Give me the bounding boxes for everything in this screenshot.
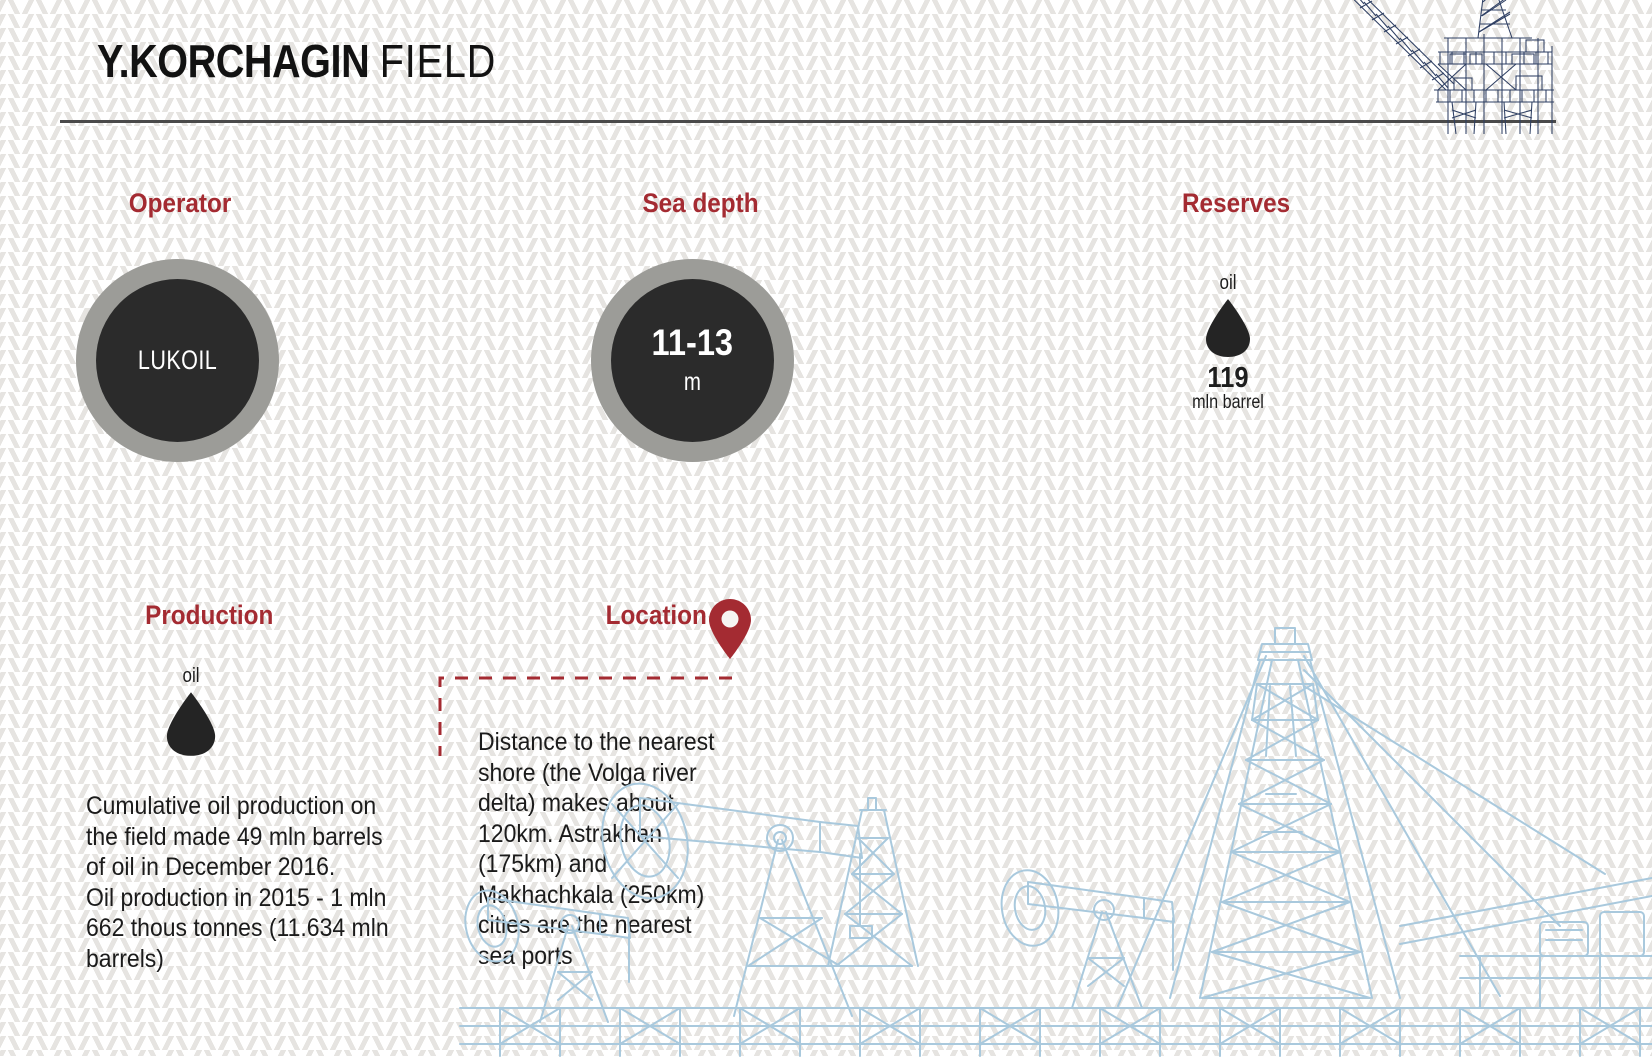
- page-title: Y.KORCHAGIN FIELD: [97, 38, 1353, 84]
- reserves-figure: oil 119 mln barrel: [1170, 273, 1286, 414]
- operator-ring: LUKOIL: [76, 259, 279, 462]
- drilling-derrick-illustration: [828, 798, 918, 966]
- section-heading-reserves: Reserves: [1182, 190, 1290, 217]
- reserves-drop-label: oil: [1179, 273, 1278, 293]
- sea-depth-value: 11-13: [652, 324, 733, 363]
- oil-drop-icon: [160, 690, 222, 758]
- reserves-value: 119: [1177, 363, 1279, 393]
- offshore-platform-illustration: [1326, 0, 1556, 134]
- oil-drop-icon: [1200, 297, 1256, 359]
- reserves-unit: mln barrel: [1179, 393, 1278, 414]
- operator-core: LUKOIL: [96, 279, 259, 442]
- operator-value: LUKOIL: [138, 345, 217, 376]
- production-drop-label: oil: [142, 666, 241, 686]
- sea-depth-badge: 11-13 m: [591, 259, 794, 462]
- sea-depth-core: 11-13 m: [611, 279, 774, 442]
- production-description: Cumulative oil production on the field m…: [86, 791, 403, 974]
- oilfield-illustration: [700, 626, 1652, 1056]
- section-heading-production: Production: [145, 602, 273, 629]
- sea-depth-ring: 11-13 m: [591, 259, 794, 462]
- production-figure: oil: [133, 666, 249, 758]
- page-title-light: FIELD: [380, 35, 496, 87]
- section-heading-operator: Operator: [129, 190, 232, 217]
- section-heading-location: Location: [606, 602, 707, 629]
- drilling-derrick-illustration: [1118, 628, 1605, 1006]
- infographic-page: Y.KORCHAGIN FIELD: [0, 0, 1652, 1056]
- page-title-bold: Y.KORCHAGIN: [97, 35, 369, 87]
- section-heading-sea-depth: Sea depth: [642, 190, 758, 217]
- sea-depth-unit: m: [684, 368, 701, 397]
- operator-badge: LUKOIL: [76, 259, 279, 462]
